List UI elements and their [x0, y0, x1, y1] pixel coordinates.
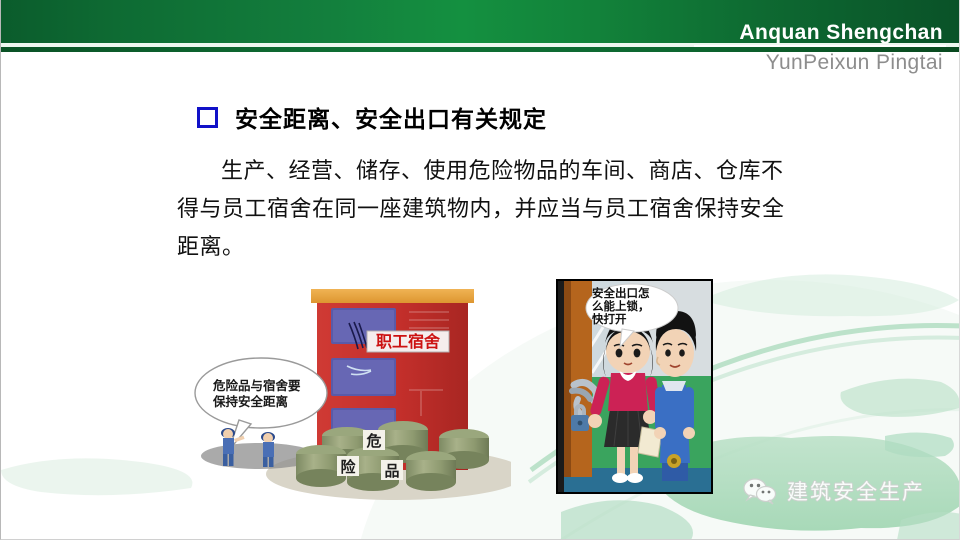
brand-title-secondary: YunPeixun Pingtai: [766, 52, 943, 74]
body-paragraph: 生产、经营、储存、使用危险物品的车间、商店、仓库不得与员工宿舍在同一座建筑物内，…: [177, 153, 797, 267]
brand-underline: [694, 45, 946, 47]
building-sign-label: 职工宿舍: [376, 332, 441, 351]
barrel-label-2: 险: [340, 458, 356, 476]
presentation-slide: Anquan Shengchan YunPeixun Pingtai 安全距离、…: [0, 0, 960, 540]
wechat-icon: [743, 477, 777, 505]
barrel-label-3: 品: [384, 462, 399, 480]
barrel-label-1: 危: [366, 432, 381, 450]
speech-bubble-line2: 么能上锁，: [592, 299, 650, 313]
channel-watermark: 建筑安全生产: [743, 476, 925, 506]
slide-title-row: 安全距离、安全出口有关规定: [197, 100, 547, 134]
speech-bubble-line1: 危险品与宿舍要: [212, 378, 301, 393]
locked-exit-illustration: 安全出口怎 么能上锁， 快打开: [556, 279, 713, 494]
brand-title-primary: Anquan Shengchan: [739, 22, 943, 44]
speech-bubble-line3: 快打开: [591, 312, 627, 326]
speech-bubble-line1: 安全出口怎: [592, 286, 650, 300]
page-title: 安全距离、安全出口有关规定: [235, 100, 547, 134]
speech-bubble-line2: 保持安全距离: [212, 394, 288, 409]
square-bullet-icon: [197, 107, 218, 128]
dormitory-hazard-distance-illustration: 职工宿舍 危险品与宿舍要 保持安全距离: [181, 278, 511, 510]
watermark-label: 建筑安全生产: [787, 476, 925, 506]
